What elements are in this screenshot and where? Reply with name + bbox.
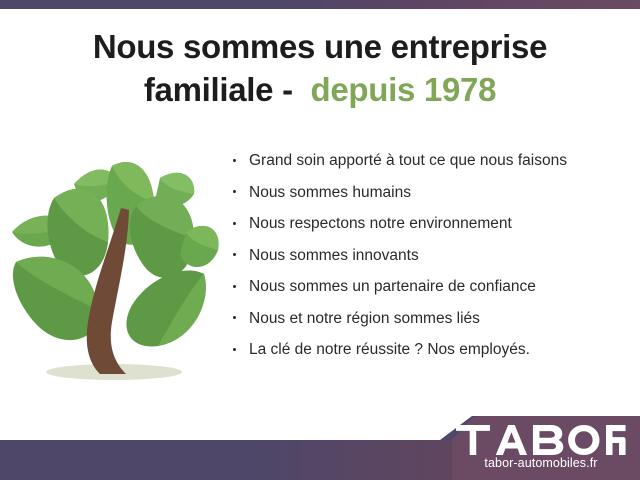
list-item: Nous et notre région sommes liés [228, 308, 628, 329]
list-item: Nous sommes un partenaire de confiance [228, 276, 628, 297]
brand-tagline: tabor-automobiles.fr [456, 456, 626, 471]
headline-dash: - [273, 71, 310, 108]
list-item: La clé de notre réussite ? Nos employés. [228, 339, 628, 360]
list-item: Nous sommes innovants [228, 245, 628, 266]
headline-depuis-1978: depuis 1978 [311, 71, 497, 108]
page-title: Nous sommes une entreprise familiale - d… [0, 26, 640, 112]
brand-lockup: tabor-automobiles.fr [456, 425, 626, 471]
green-tree-illustration [8, 150, 223, 390]
list-item: Nous respectons notre environnement [228, 213, 628, 234]
headline-line-2: familiale - depuis 1978 [0, 69, 640, 112]
list-item: Grand soin apporté à tout ce que nous fa… [228, 150, 628, 171]
headline-familiale: familiale [144, 71, 273, 108]
slide-canvas: Nous sommes une entreprise familiale - d… [0, 0, 640, 480]
value-bullet-list: Grand soin apporté à tout ce que nous fa… [228, 150, 628, 371]
list-item: Nous sommes humains [228, 182, 628, 203]
tabor-wordmark [456, 425, 626, 455]
top-accent-bar [0, 0, 640, 9]
headline-line-1: Nous sommes une entreprise [0, 26, 640, 69]
